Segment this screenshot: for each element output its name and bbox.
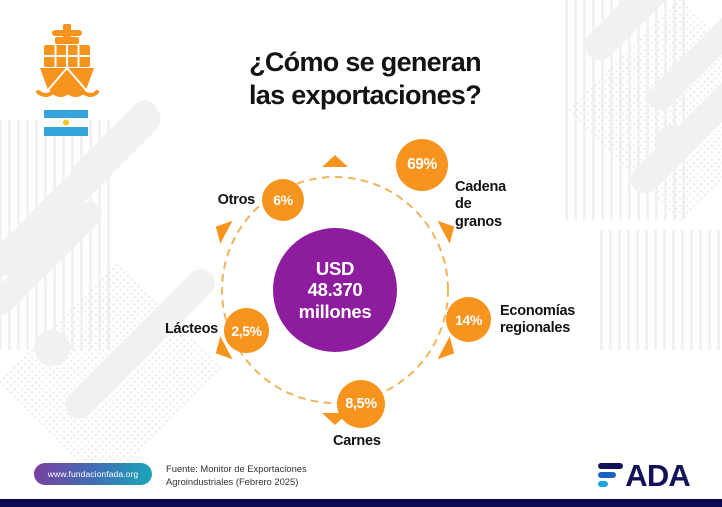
bg-vertical-stripes-right <box>565 0 685 220</box>
bg-vertical-stripes-right-2 <box>600 230 722 350</box>
cargo-ship-icon <box>34 24 100 109</box>
fada-logo: ADA <box>598 458 690 492</box>
slice-value-lacteos: 2,5% <box>231 323 261 339</box>
argentina-flag-icon <box>44 110 88 136</box>
center-amount: 48.370 <box>308 279 363 301</box>
page-title-line-2: las exportaciones? <box>180 79 550 112</box>
fada-logo-wordmark: ADA <box>625 460 690 491</box>
slice-label-economias-regionales: Economías regionales <box>500 303 575 338</box>
bg-dot-right <box>655 125 689 159</box>
center-currency: USD <box>316 258 354 280</box>
slice-label-lacteos: Lácteos <box>160 321 218 338</box>
bg-bar-2 <box>0 196 107 320</box>
slice-node-economias-regionales[interactable]: 14% <box>446 297 491 342</box>
slice-label-cadena-de-granos: Cadena de granos <box>455 179 506 231</box>
slice-value-carnes: 8,5% <box>345 396 376 412</box>
slice-node-lacteos[interactable]: 2,5% <box>224 308 269 353</box>
exports-wheel-chart: USD 48.370 millones 69% Cadena de granos… <box>170 125 500 455</box>
infographic-canvas: ¿Cómo se generan las exportaciones? USD … <box>0 0 722 507</box>
slice-node-cadena-de-granos[interactable]: 69% <box>396 139 448 191</box>
page-title: ¿Cómo se generan las exportaciones? <box>180 46 550 112</box>
website-url-pill[interactable]: www.fundacionfada.org <box>34 463 152 485</box>
slice-node-otros[interactable]: 6% <box>262 179 304 221</box>
fada-logo-f-mark <box>598 462 624 488</box>
slice-value-otros: 6% <box>273 192 292 208</box>
bg-dot-left <box>34 330 70 366</box>
bg-bar-6 <box>643 0 722 115</box>
center-units: millones <box>299 301 372 323</box>
bg-bar-7 <box>625 59 722 199</box>
footer-accent-bar <box>0 499 722 507</box>
wheel-center-total: USD 48.370 millones <box>273 228 397 352</box>
bg-dot-grid-right <box>567 0 722 223</box>
website-url-text: www.fundacionfada.org <box>48 469 138 479</box>
slice-node-carnes[interactable]: 8,5% <box>337 380 385 428</box>
bg-bar-5 <box>579 0 722 66</box>
slice-value-economias-regionales: 14% <box>455 312 482 328</box>
slice-label-carnes: Carnes <box>333 433 381 450</box>
slice-value-cadena-de-granos: 69% <box>407 156 437 174</box>
bg-vertical-stripes-left <box>0 120 110 350</box>
page-title-line-1: ¿Cómo se generan <box>180 46 550 79</box>
slice-label-otros: Otros <box>200 192 255 209</box>
source-note: Fuente: Monitor de Exportaciones Agroind… <box>166 463 426 489</box>
